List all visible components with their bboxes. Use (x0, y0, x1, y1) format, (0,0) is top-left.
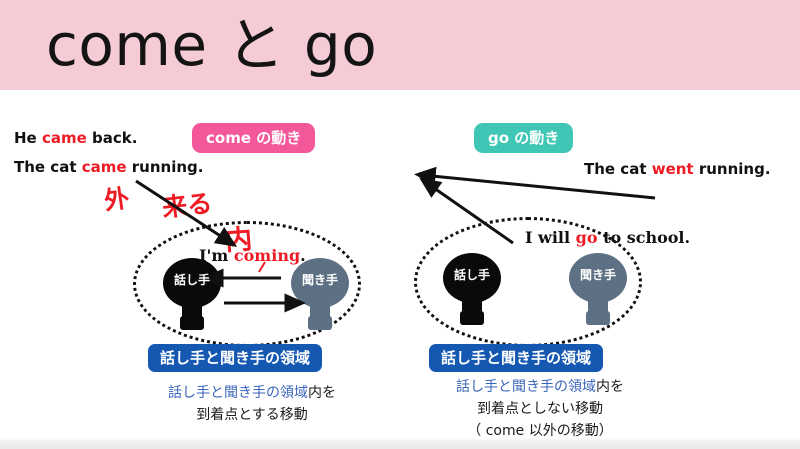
caption-line-1: 話し手と聞き手の領域内を (112, 382, 392, 404)
figure-speaker-right: 話し手 (443, 253, 501, 325)
arrow-outward-long (432, 176, 655, 198)
sentence-he-came-back: He came back. (14, 129, 137, 147)
caption-line-1: 話し手と聞き手の領域内を (400, 376, 680, 398)
caption-line-1-blue: 話し手と聞き手の領域 (456, 379, 596, 395)
region-label-left: 話し手と聞き手の領域 (148, 344, 322, 372)
caption-right: 話し手と聞き手の領域内を 到着点としない移動 （ come 以外の移動） (400, 376, 680, 442)
slide-canvas: come と go come の動き go の動き He came back. … (0, 0, 800, 449)
sentence-cat-went-running: The cat went running. (584, 160, 771, 178)
highlight-word: came (42, 129, 87, 147)
badge-come-movement: come の動き (192, 123, 315, 153)
bottom-edge-strip (0, 437, 800, 449)
caption-line-1-black: 内を (308, 385, 336, 401)
sentence-cat-came-running: The cat came running. (14, 158, 203, 176)
annotation-soto-outside: 外 (102, 178, 132, 217)
sentence-post: back. (87, 129, 138, 147)
sentence-pre: He (14, 129, 42, 147)
sentence-post: running. (694, 160, 771, 178)
badge-go-movement: go の動き (474, 123, 573, 153)
figure-label: 聞き手 (569, 266, 627, 283)
highlight-word: came (82, 158, 127, 176)
page-title: come と go (46, 8, 377, 82)
caption-left: 話し手と聞き手の領域内を 到着点とする移動 (112, 382, 392, 426)
highlight-word: went (652, 160, 694, 178)
annotation-kuru-come: 来る (160, 183, 214, 224)
figure-listener-left: 聞き手 (291, 258, 349, 330)
caption-line-1-blue: 話し手と聞き手の領域 (168, 385, 308, 401)
sentence-pre: The cat (14, 158, 82, 176)
sentence-post: running. (127, 158, 204, 176)
figure-listener-right: 聞き手 (569, 253, 627, 325)
figure-label: 話し手 (443, 266, 501, 283)
sentence-pre: The cat (584, 160, 652, 178)
figure-label: 聞き手 (291, 271, 349, 288)
figure-speaker-left: 話し手 (163, 258, 221, 330)
caption-line-2: 到着点としない移動 (400, 398, 680, 420)
caption-line-1-black: 内を (596, 379, 624, 395)
region-label-right: 話し手と聞き手の領域 (429, 344, 603, 372)
caption-line-2: 到着点とする移動 (112, 404, 392, 426)
figure-label: 話し手 (163, 271, 221, 288)
